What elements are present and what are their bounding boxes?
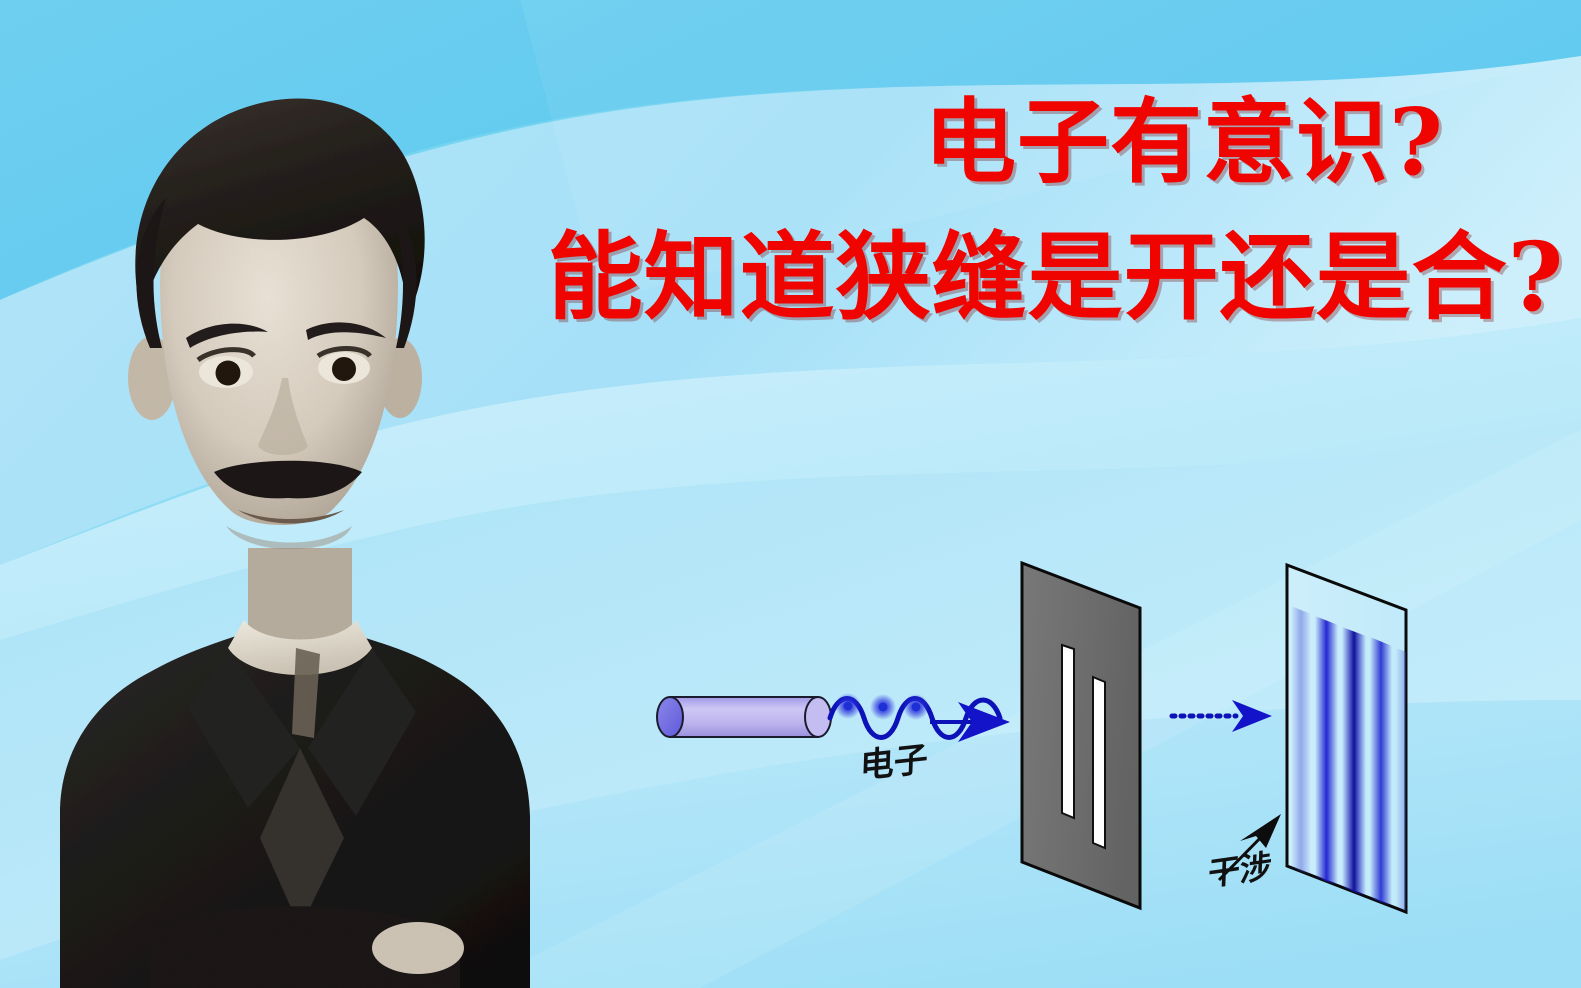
handwritten-label-electron: 电子: [859, 731, 928, 788]
electron-particle-1-core: [844, 702, 853, 711]
fringe-5: [1396, 648, 1414, 914]
fringe-4: [1370, 637, 1392, 906]
barrier-plate: [1022, 563, 1140, 908]
detection-screen: [1287, 565, 1414, 914]
barrier-slit-2: [1093, 677, 1105, 848]
electron-gun-cap: [657, 697, 683, 737]
einstein-eye-right-pupil: [332, 357, 356, 381]
electron-particle-2-core: [879, 703, 888, 712]
einstein-portrait: [0, 48, 600, 988]
handwritten-label-interference: 干涉: [1207, 840, 1272, 896]
einstein-eye-left-pupil: [216, 361, 241, 386]
double-slit-barrier: [1022, 563, 1140, 908]
einstein-hand: [372, 922, 464, 974]
fringe-2: [1315, 616, 1338, 888]
barrier-slit-1: [1062, 645, 1074, 818]
fringe-1: [1291, 606, 1311, 878]
einstein-chin-shade: [226, 526, 352, 549]
diffracted-beam-arrow: [1172, 700, 1272, 732]
electron-particle-3-core: [912, 703, 921, 712]
fringe-3: [1342, 627, 1366, 898]
electron-gun-body: [670, 697, 818, 737]
electron-gun: [657, 697, 831, 737]
poster-canvas: 电子有意识? 能知道狭缝是开还是合?: [0, 0, 1581, 988]
electron-gun-muzzle: [805, 697, 831, 737]
